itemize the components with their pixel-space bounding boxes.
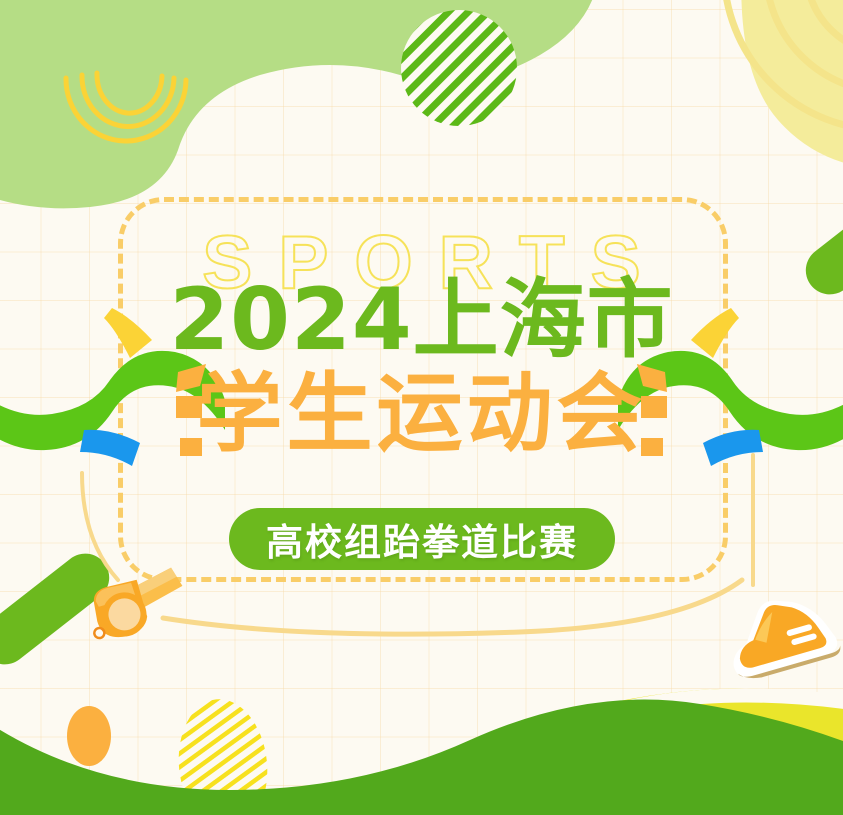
orange-ellipse-bottom-left	[67, 706, 111, 766]
running-shoe-icon	[719, 586, 842, 684]
wave-green-bottom	[0, 700, 843, 815]
poster-canvas: SPORTS 2024上海市 学生运动会 高校组跆拳道比赛	[0, 0, 843, 815]
foreground-layer	[0, 0, 843, 815]
whistle-icon	[85, 566, 189, 642]
